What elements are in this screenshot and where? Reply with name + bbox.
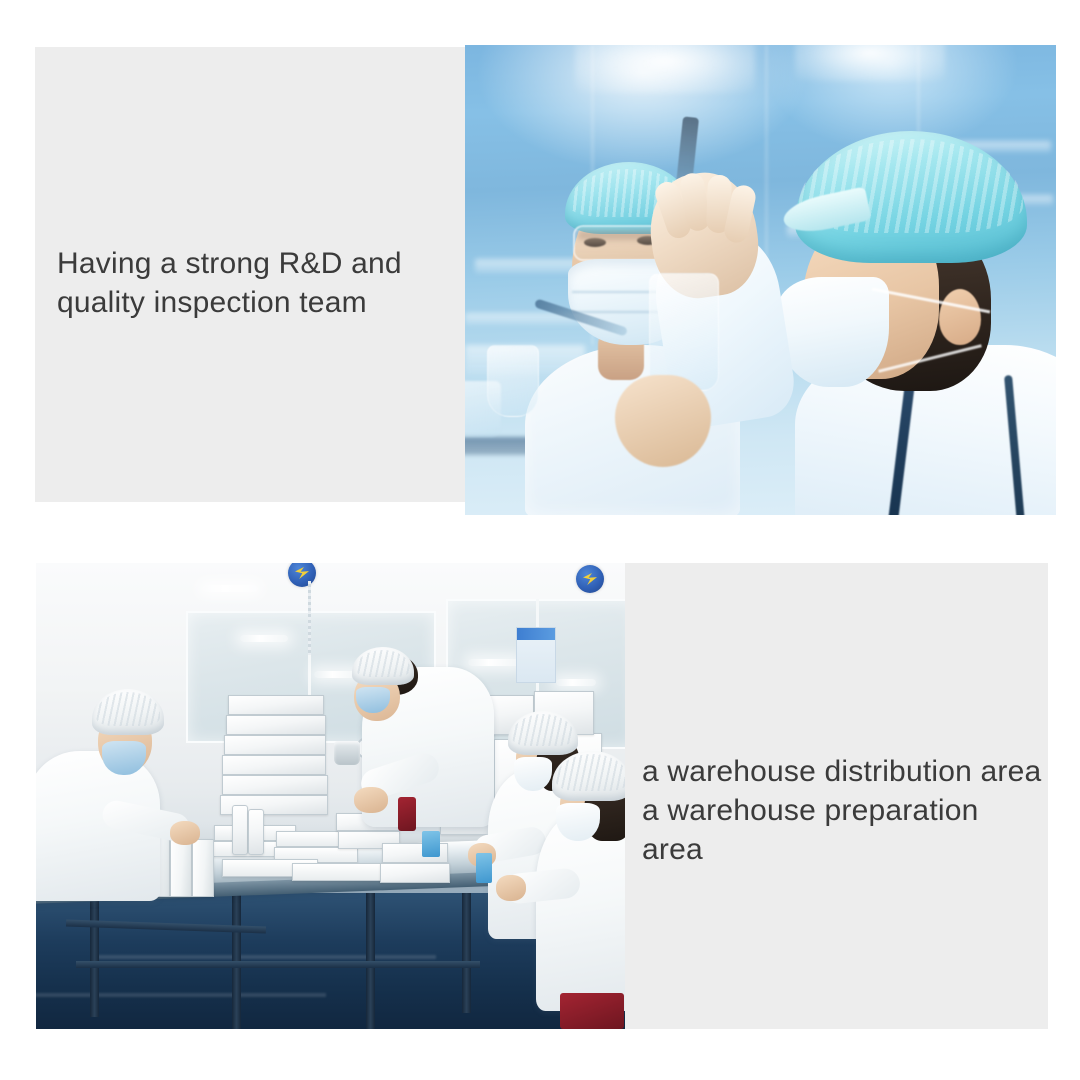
wall-notice-board [516,627,556,683]
ceiling-tube-light-1 [202,585,258,592]
table-rail-lower [76,961,480,968]
carton-stack-back-3 [224,735,326,755]
warehouse-packing-photo [36,563,625,1029]
table-leg-1 [90,889,99,1017]
steel-pot-1 [334,741,360,765]
ceiling-light-glow-2 [795,45,945,81]
worker-1-hand [170,821,200,845]
glass-vial [649,273,719,391]
carton-stack-back-4 [222,755,326,775]
carton-stack-back-1 [228,695,324,715]
ceiling-tube-light-5 [556,679,596,686]
table-leg-4 [462,893,471,1013]
floor-stripe-2 [36,993,326,997]
worker-2-hand [354,787,388,813]
carton-table-6 [292,863,384,881]
ceiling-tube-light-2 [240,635,288,642]
blue-label-on-table [422,831,440,857]
worker-right-face-mask [777,277,889,387]
worker-4-red-trim [560,993,624,1029]
floor-stripe-1 [96,955,436,959]
carton-stack-back-5 [222,775,328,795]
worker-4-blue-label [476,853,492,883]
carton-bottle-2 [248,809,264,855]
carton-stack-back-2 [226,715,326,735]
worker-2-red-item [398,797,416,831]
hanging-hose [308,581,311,655]
ceiling-tube-light-4 [468,659,520,666]
blue-safety-sign-2 [576,565,604,593]
worker-4-coat [536,811,625,1011]
carton-front-upright-5 [192,839,214,897]
table-leg-2 [232,891,241,1029]
worker-4-hand [496,875,526,901]
worker-right-ear [939,289,981,345]
warehouse-caption-text: a warehouse distribution area a warehous… [642,752,1042,869]
beaker [465,381,501,437]
page-canvas: Having a strong R&D and quality inspecti… [0,0,1080,1080]
carton-mid-cluster-4 [380,863,450,883]
rnd-lab-photo [465,45,1056,515]
carton-bottle-1 [232,805,248,855]
ceiling-light-glow [575,45,755,93]
